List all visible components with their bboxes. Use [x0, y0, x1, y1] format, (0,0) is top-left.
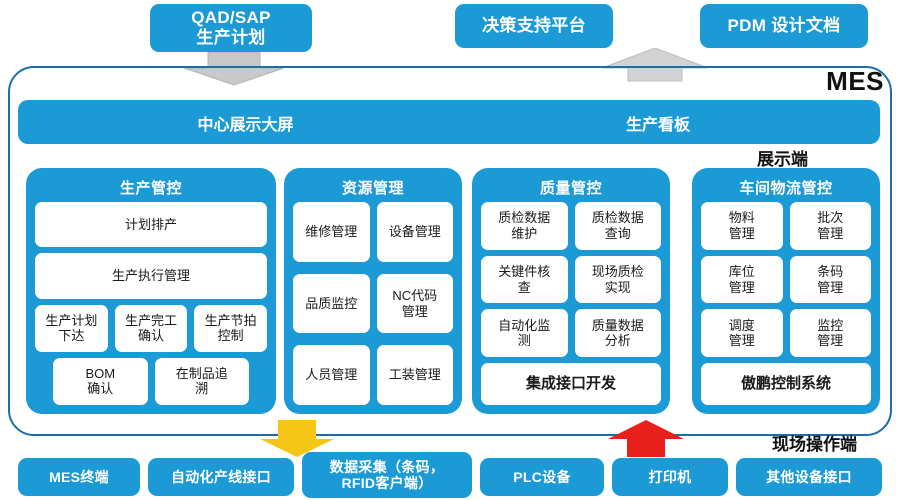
terminal-mes-client[interactable]: MES终端 [18, 458, 140, 496]
external-box-pdm[interactable]: PDM 设计文档 [700, 4, 868, 48]
terminal-label: 打印机 [649, 469, 692, 485]
display-side-label: 展示端 [757, 145, 808, 170]
panel-row: 计划排产 [35, 202, 267, 247]
terminal-other-device-interface[interactable]: 其他设备接口 [736, 458, 882, 496]
terminal-label: 自动化产线接口 [171, 469, 271, 485]
module-cell[interactable]: 物料管理 [701, 202, 783, 250]
module-cell[interactable]: 监控管理 [790, 309, 872, 357]
module-cell[interactable]: 计划排产 [35, 202, 267, 247]
module-cell[interactable]: 品质监控 [293, 274, 370, 334]
panel-row: 关键件核查 现场质检实现 [481, 256, 661, 304]
display-banner[interactable]: 中心展示大屏 生产看板 [18, 100, 880, 144]
module-cell[interactable]: 现场质检实现 [575, 256, 662, 304]
banner-center-display-label: 中心展示大屏 [18, 111, 473, 135]
external-box-qad-sap[interactable]: QAD/SAP生产计划 [150, 4, 312, 52]
panel-row: 人员管理 工装管理 [293, 345, 453, 405]
module-cell[interactable]: 生产执行管理 [35, 253, 267, 298]
module-cell[interactable]: 生产计划下达 [35, 305, 108, 352]
module-cell[interactable]: 集成接口开发 [481, 363, 661, 405]
module-cell[interactable]: 设备管理 [377, 202, 454, 262]
mes-architecture-diagram: QAD/SAP生产计划 决策支持平台 PDM 设计文档 MES 中心展示大屏 生… [0, 0, 900, 500]
terminal-plc-device[interactable]: PLC设备 [480, 458, 604, 496]
module-cell[interactable]: 工装管理 [377, 345, 454, 405]
panel-production-control[interactable]: 生产管控 计划排产 生产执行管理 生产计划下达 生产完工确认 生产节拍控制 BO… [26, 168, 276, 414]
module-cell[interactable]: 自动化监测 [481, 309, 568, 357]
banner-production-board-label: 生产看板 [473, 111, 843, 135]
terminal-label: MES终端 [49, 469, 109, 485]
module-cell[interactable]: 质检数据查询 [575, 202, 662, 250]
external-box-pdm-label: PDM 设计文档 [728, 16, 841, 36]
panel-production-control-title: 生产管控 [26, 177, 276, 198]
panel-row: 维修管理 设备管理 [293, 202, 453, 262]
module-cell[interactable]: 人员管理 [293, 345, 370, 405]
module-cell[interactable]: 生产完工确认 [115, 305, 188, 352]
terminal-label: 数据采集（条码，RFID客户端） [330, 459, 444, 491]
module-cell[interactable]: BOM确认 [53, 358, 148, 405]
terminal-label: 其他设备接口 [766, 469, 852, 485]
external-box-decision-platform-label: 决策支持平台 [482, 16, 586, 36]
panel-row: 自动化监测 质量数据分析 [481, 309, 661, 357]
panel-quality-control-title: 质量管控 [472, 177, 670, 198]
panel-resource-management[interactable]: 资源管理 维修管理 设备管理 品质监控 NC代码管理 人员管理 工装管理 [284, 168, 462, 414]
terminal-label: PLC设备 [513, 469, 571, 485]
panel-workshop-logistics-title: 车间物流管控 [692, 177, 880, 198]
panel-row: 生产执行管理 [35, 253, 267, 298]
terminal-data-collection[interactable]: 数据采集（条码，RFID客户端） [302, 452, 472, 498]
module-cell[interactable]: 在制品追溯 [155, 358, 250, 405]
module-cell[interactable]: 调度管理 [701, 309, 783, 357]
panel-row: 傲鹏控制系统 [701, 363, 871, 405]
panel-quality-control[interactable]: 质量管控 质检数据维护 质检数据查询 关键件核查 现场质检实现 自动化监测 质量… [472, 168, 670, 414]
panel-workshop-logistics-body: 物料管理 批次管理 库位管理 条码管理 调度管理 监控管理 傲鹏控制系统 [701, 202, 871, 405]
panel-row: 质检数据维护 质检数据查询 [481, 202, 661, 250]
panel-row: BOM确认 在制品追溯 [35, 358, 267, 405]
panel-row: 品质监控 NC代码管理 [293, 274, 453, 334]
terminal-printer[interactable]: 打印机 [612, 458, 728, 496]
module-cell[interactable]: 批次管理 [790, 202, 872, 250]
panel-row: 库位管理 条码管理 [701, 256, 871, 304]
panel-row: 调度管理 监控管理 [701, 309, 871, 357]
module-cell[interactable]: 生产节拍控制 [194, 305, 267, 352]
external-box-decision-platform[interactable]: 决策支持平台 [455, 4, 613, 48]
external-box-qad-sap-label: QAD/SAP生产计划 [191, 8, 271, 47]
module-cell[interactable]: 质量数据分析 [575, 309, 662, 357]
panel-resource-management-body: 维修管理 设备管理 品质监控 NC代码管理 人员管理 工装管理 [293, 202, 453, 405]
panel-row: 物料管理 批次管理 [701, 202, 871, 250]
mes-title: MES [826, 66, 884, 97]
module-cell[interactable]: 维修管理 [293, 202, 370, 262]
field-side-label: 现场操作端 [772, 430, 857, 455]
panel-row: 集成接口开发 [481, 363, 661, 405]
panel-quality-control-body: 质检数据维护 质检数据查询 关键件核查 现场质检实现 自动化监测 质量数据分析 … [481, 202, 661, 405]
module-cell[interactable]: NC代码管理 [377, 274, 454, 334]
module-cell[interactable]: 质检数据维护 [481, 202, 568, 250]
module-cell[interactable]: 库位管理 [701, 256, 783, 304]
panel-production-control-body: 计划排产 生产执行管理 生产计划下达 生产完工确认 生产节拍控制 BOM确认 在… [35, 202, 267, 405]
panel-row: 生产计划下达 生产完工确认 生产节拍控制 [35, 305, 267, 352]
panel-workshop-logistics[interactable]: 车间物流管控 物料管理 批次管理 库位管理 条码管理 调度管理 监控管理 傲鹏控… [692, 168, 880, 414]
module-cell[interactable]: 条码管理 [790, 256, 872, 304]
collect-up-arrow [606, 420, 686, 458]
terminal-automation-line-interface[interactable]: 自动化产线接口 [148, 458, 294, 496]
module-cell[interactable]: 傲鹏控制系统 [701, 363, 871, 405]
module-cell[interactable]: 关键件核查 [481, 256, 568, 304]
panel-resource-management-title: 资源管理 [284, 177, 462, 198]
